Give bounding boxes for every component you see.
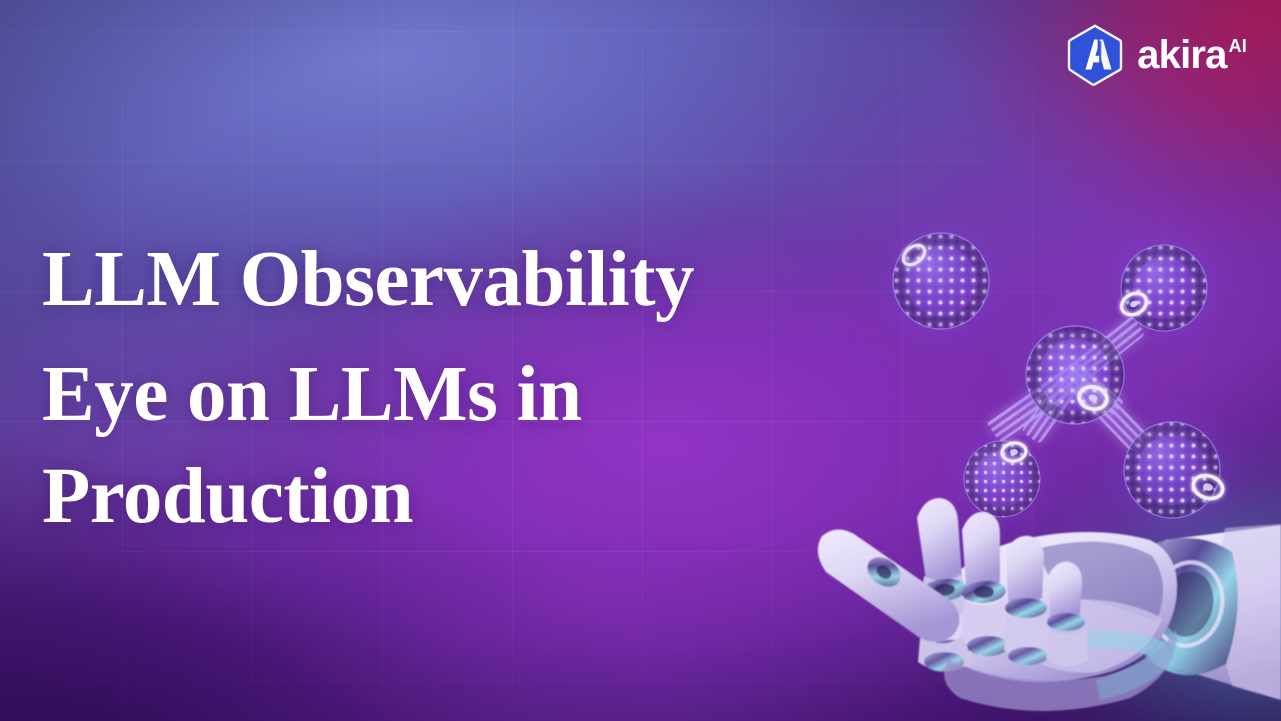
brand-logo[interactable]: akira AI <box>1066 24 1247 86</box>
brand-wordmark: akira AI <box>1137 35 1247 75</box>
brand-name: akira <box>1137 35 1226 75</box>
akira-hexagon-a-logo-icon <box>1066 24 1124 86</box>
headline-line-1: LLM Observability <box>42 229 694 332</box>
banner-canvas: LLM Observability Eye on LLMs in Product… <box>0 0 1281 721</box>
brand-superscript: AI <box>1229 37 1247 55</box>
headline-line-3: Production <box>42 446 694 549</box>
page-title: LLM Observability Eye on LLMs in Product… <box>42 229 694 549</box>
headline-line-2: Eye on LLMs in <box>42 344 694 447</box>
